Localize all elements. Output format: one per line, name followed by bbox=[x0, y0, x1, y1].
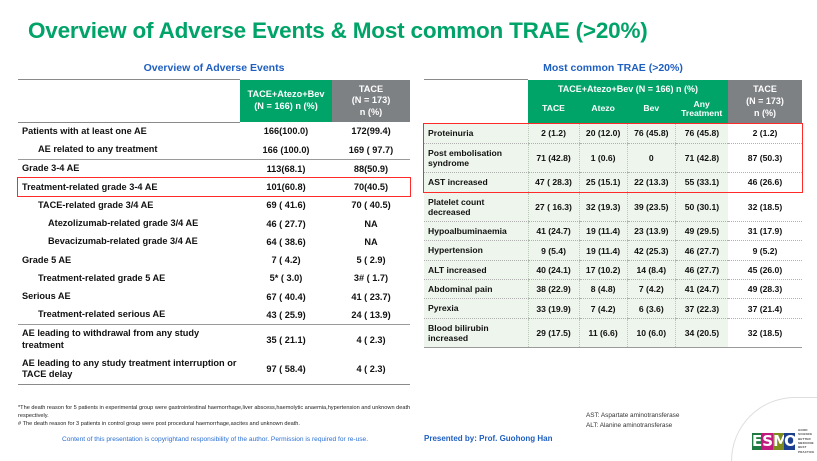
row-value-bev: 14 (8.4) bbox=[627, 260, 675, 279]
row-value-any-treatment: 49 (29.5) bbox=[675, 222, 728, 241]
left-header-combo: TACE+Atezo+Bev (N = 166) n (%) bbox=[240, 80, 332, 123]
row-value-atezo: 7 (4.2) bbox=[579, 299, 627, 318]
left-table-body: Patients with at least one AE166(100.0)1… bbox=[18, 122, 410, 384]
row-label: Hypertension bbox=[424, 241, 528, 260]
right-header-group-combo: TACE+Atezo+Bev (N = 166) n (%) bbox=[528, 80, 728, 97]
right-header-group-row: TACE+Atezo+Bev (N = 166) n (%) TACE (N =… bbox=[424, 80, 802, 97]
row-label: TACE-related grade 3/4 AE bbox=[18, 196, 240, 214]
page-title: Overview of Adverse Events & Most common… bbox=[28, 18, 648, 44]
table-row: Post embolisation syndrome71 (42.8)1 (0.… bbox=[424, 143, 802, 173]
right-table-head: TACE+Atezo+Bev (N = 166) n (%) TACE (N =… bbox=[424, 80, 802, 125]
row-value-bev: 39 (23.5) bbox=[627, 192, 675, 222]
row-value-tace: NA bbox=[332, 233, 410, 251]
table-row: Treatment-related grade 5 AE5* ( 3.0)3# … bbox=[18, 269, 410, 287]
row-value-tace-mono: 2 (1.2) bbox=[728, 124, 802, 143]
right-header-sub-any-line2: Treatment bbox=[676, 109, 727, 119]
table-row: ALT increased40 (24.1)17 (10.2)14 (8.4)4… bbox=[424, 260, 802, 279]
esmo-logo-tagline: GOOD SCIENCE BETTER MEDICINE BEST PRACTI… bbox=[798, 428, 817, 454]
esmo-logo-letter-m: M bbox=[773, 433, 784, 450]
table-row: Platelet count decreased27 ( 16.3)32 (19… bbox=[424, 192, 802, 222]
right-table-caption: Most common TRAE (>20%) bbox=[424, 62, 802, 74]
row-label: Post embolisation syndrome bbox=[424, 143, 528, 173]
presented-by: Presented by: Prof. Guohong Han bbox=[424, 434, 552, 443]
row-label: Platelet count decreased bbox=[424, 192, 528, 222]
row-value-tace-mono: 9 (5.2) bbox=[728, 241, 802, 260]
row-value-tace-mono: 32 (18.5) bbox=[728, 318, 802, 348]
esmo-logo-letter-s: S bbox=[762, 433, 773, 450]
esmo-tagline-line2: BETTER MEDICINE bbox=[798, 437, 817, 446]
table-row: Pyrexia33 (19.9)7 (4.2)6 (3.6)37 (22.3)3… bbox=[424, 299, 802, 318]
row-value-any-treatment: 76 (45.8) bbox=[675, 124, 728, 143]
row-label: ALT increased bbox=[424, 260, 528, 279]
row-label: Treatment-related serious AE bbox=[18, 306, 240, 325]
row-value-combo: 166(100.0) bbox=[240, 122, 332, 141]
row-label: Atezolizumab-related grade 3/4 AE bbox=[18, 215, 240, 233]
row-value-combo: 64 ( 38.6) bbox=[240, 233, 332, 251]
row-value-atezo: 17 (10.2) bbox=[579, 260, 627, 279]
row-value-combo: 35 ( 21.1) bbox=[240, 324, 332, 354]
row-value-tace: 71 (42.8) bbox=[528, 143, 579, 173]
row-value-combo: 5* ( 3.0) bbox=[240, 269, 332, 287]
row-value-combo: 7 ( 4.2) bbox=[240, 251, 332, 269]
esmo-tagline-line1: GOOD SCIENCE bbox=[798, 428, 817, 437]
left-header-tace: TACE (N = 173) n (%) bbox=[332, 80, 410, 123]
row-label: Proteinuria bbox=[424, 124, 528, 143]
table-row: Patients with at least one AE166(100.0)1… bbox=[18, 122, 410, 141]
right-header-tace: TACE (N = 173) n (%) bbox=[728, 80, 802, 125]
abbreviation-ast: AST: Aspartate aminotransferase bbox=[586, 411, 679, 421]
table-row: Treatment-related serious AE43 ( 25.9)24… bbox=[18, 306, 410, 325]
row-value-tace: 3# ( 1.7) bbox=[332, 269, 410, 287]
overview-adverse-events-table: TACE+Atezo+Bev (N = 166) n (%) TACE (N =… bbox=[18, 79, 410, 385]
row-value-tace: 2 (1.2) bbox=[528, 124, 579, 143]
row-value-tace: 38 (22.9) bbox=[528, 280, 579, 299]
esmo-logo-letter-e: E bbox=[752, 433, 762, 450]
row-value-atezo: 32 (19.3) bbox=[579, 192, 627, 222]
row-value-tace: 70 ( 40.5) bbox=[332, 196, 410, 214]
table-row: Serious AE67 ( 40.4)41 ( 23.7) bbox=[18, 287, 410, 305]
row-label: Bevacizumab-related grade 3/4 AE bbox=[18, 233, 240, 251]
overview-adverse-events-panel: Overview of Adverse Events TACE+Atezo+Be… bbox=[18, 62, 410, 385]
row-label: Abdominal pain bbox=[424, 280, 528, 299]
table-row: AST increased47 ( 28.3)25 (15.1)22 (13.3… bbox=[424, 173, 802, 192]
row-value-bev: 0 bbox=[627, 143, 675, 173]
copyright-notice: Content of this presentation is copyrigh… bbox=[62, 436, 368, 443]
right-header-tace-line1: TACE bbox=[730, 84, 800, 96]
row-value-any-treatment: 71 (42.8) bbox=[675, 143, 728, 173]
row-value-tace: 4 ( 2.3) bbox=[332, 354, 410, 384]
row-value-combo: 113(68.1) bbox=[240, 159, 332, 178]
right-header-sub-tace: TACE bbox=[528, 97, 579, 125]
left-header-combo-line2: (N = 166) n (%) bbox=[242, 101, 330, 113]
left-table-head: TACE+Atezo+Bev (N = 166) n (%) TACE (N =… bbox=[18, 80, 410, 123]
row-value-combo: 43 ( 25.9) bbox=[240, 306, 332, 325]
row-value-tace: 29 (17.5) bbox=[528, 318, 579, 348]
row-label: Hypoalbuminaemia bbox=[424, 222, 528, 241]
row-value-tace-mono: 49 (28.3) bbox=[728, 280, 802, 299]
row-value-tace: 24 ( 13.9) bbox=[332, 306, 410, 325]
left-header-combo-line1: TACE+Atezo+Bev bbox=[242, 89, 330, 101]
row-value-combo: 166 (100.0) bbox=[240, 141, 332, 160]
row-value-tace: 40 (24.1) bbox=[528, 260, 579, 279]
right-abbreviations: AST: Aspartate aminotransferase ALT: Ala… bbox=[586, 411, 679, 431]
row-value-tace: 9 (5.4) bbox=[528, 241, 579, 260]
table-row: Hypertension9 (5.4)19 (11.4)42 (25.3)46 … bbox=[424, 241, 802, 260]
table-row: Atezolizumab-related grade 3/4 AE46 ( 27… bbox=[18, 215, 410, 233]
right-header-sub-atezo: Atezo bbox=[579, 97, 627, 125]
left-header-tace-line2: (N = 173) bbox=[334, 95, 408, 107]
left-header-blank bbox=[18, 80, 240, 123]
row-value-tace-mono: 32 (18.5) bbox=[728, 192, 802, 222]
row-value-tace-mono: 46 (26.6) bbox=[728, 173, 802, 192]
row-value-bev: 6 (3.6) bbox=[627, 299, 675, 318]
row-label: AE related to any treatment bbox=[18, 141, 240, 160]
row-value-bev: 10 (6.0) bbox=[627, 318, 675, 348]
row-label: Blood bilirubin increased bbox=[424, 318, 528, 348]
row-value-any-treatment: 34 (20.5) bbox=[675, 318, 728, 348]
right-table-body: Proteinuria2 (1.2)20 (12.0)76 (45.8)76 (… bbox=[424, 124, 802, 348]
row-value-tace-mono: 37 (21.4) bbox=[728, 299, 802, 318]
row-label: Grade 5 AE bbox=[18, 251, 240, 269]
row-label: AE leading to any study treatment interr… bbox=[18, 354, 240, 384]
right-header-sub-any-treatment: Any Treatment bbox=[675, 97, 728, 125]
row-value-any-treatment: 41 (24.7) bbox=[675, 280, 728, 299]
table-row: AE leading to withdrawal from any study … bbox=[18, 324, 410, 354]
right-header-tace-line3: n (%) bbox=[730, 108, 800, 120]
row-value-atezo: 19 (11.4) bbox=[579, 222, 627, 241]
row-value-combo: 69 ( 41.6) bbox=[240, 196, 332, 214]
left-header-tace-line3: n (%) bbox=[334, 107, 408, 119]
row-value-tace: 70(40.5) bbox=[332, 178, 410, 196]
row-label: Treatment-related grade 3-4 AE bbox=[18, 178, 240, 196]
row-value-tace: 47 ( 28.3) bbox=[528, 173, 579, 192]
row-label: AST increased bbox=[424, 173, 528, 192]
table-row: Hypoalbuminaemia41 (24.7)19 (11.4)23 (13… bbox=[424, 222, 802, 241]
table-row: Abdominal pain38 (22.9)8 (4.8)7 (4.2)41 … bbox=[424, 280, 802, 299]
row-value-tace: NA bbox=[332, 215, 410, 233]
most-common-trae-table: TACE+Atezo+Bev (N = 166) n (%) TACE (N =… bbox=[424, 79, 802, 348]
left-footnotes: *The death reason for 5 patients in expe… bbox=[18, 404, 418, 428]
esmo-logo: E S M O GOOD SCIENCE BETTER MEDICINE BES… bbox=[752, 428, 817, 454]
row-value-tace: 88(50.9) bbox=[332, 159, 410, 178]
row-value-bev: 76 (45.8) bbox=[627, 124, 675, 143]
row-value-bev: 7 (4.2) bbox=[627, 280, 675, 299]
row-label: Pyrexia bbox=[424, 299, 528, 318]
row-value-atezo: 1 (0.6) bbox=[579, 143, 627, 173]
row-value-tace-mono: 45 (26.0) bbox=[728, 260, 802, 279]
table-row: Bevacizumab-related grade 3/4 AE64 ( 38.… bbox=[18, 233, 410, 251]
row-label: Grade 3-4 AE bbox=[18, 159, 240, 178]
row-value-combo: 97 ( 58.4) bbox=[240, 354, 332, 384]
esmo-tagline-line3: BEST PRACTICE bbox=[798, 445, 817, 454]
row-value-tace-mono: 31 (17.9) bbox=[728, 222, 802, 241]
row-value-atezo: 25 (15.1) bbox=[579, 173, 627, 192]
row-value-combo: 67 ( 40.4) bbox=[240, 287, 332, 305]
row-value-tace: 5 ( 2.9) bbox=[332, 251, 410, 269]
row-value-combo: 46 ( 27.7) bbox=[240, 215, 332, 233]
row-value-tace: 41 (24.7) bbox=[528, 222, 579, 241]
row-value-combo: 101(60.8) bbox=[240, 178, 332, 196]
table-row: Grade 3-4 AE113(68.1)88(50.9) bbox=[18, 159, 410, 178]
row-value-tace-mono: 87 (50.3) bbox=[728, 143, 802, 173]
right-header-blank bbox=[424, 80, 528, 125]
esmo-logo-letter-o: O bbox=[784, 433, 795, 450]
row-value-any-treatment: 50 (30.1) bbox=[675, 192, 728, 222]
row-value-bev: 22 (13.3) bbox=[627, 173, 675, 192]
row-value-any-treatment: 46 (27.7) bbox=[675, 241, 728, 260]
left-header-tace-line1: TACE bbox=[334, 84, 408, 96]
row-value-atezo: 20 (12.0) bbox=[579, 124, 627, 143]
table-row: AE related to any treatment166 (100.0)16… bbox=[18, 141, 410, 160]
right-header-tace-line2: (N = 173) bbox=[730, 96, 800, 108]
row-value-tace: 4 ( 2.3) bbox=[332, 324, 410, 354]
row-value-bev: 23 (13.9) bbox=[627, 222, 675, 241]
row-value-any-treatment: 37 (22.3) bbox=[675, 299, 728, 318]
table-row: Proteinuria2 (1.2)20 (12.0)76 (45.8)76 (… bbox=[424, 124, 802, 143]
table-row: Treatment-related grade 3-4 AE101(60.8)7… bbox=[18, 178, 410, 196]
row-value-tace: 33 (19.9) bbox=[528, 299, 579, 318]
right-header-sub-bev: Bev bbox=[627, 97, 675, 125]
table-row: Blood bilirubin increased29 (17.5)11 (6.… bbox=[424, 318, 802, 348]
abbreviation-alt: ALT: Alanine aminotransferase bbox=[586, 421, 679, 431]
row-label: Serious AE bbox=[18, 287, 240, 305]
row-value-atezo: 8 (4.8) bbox=[579, 280, 627, 299]
row-value-tace: 27 ( 16.3) bbox=[528, 192, 579, 222]
footnote-asterisk: *The death reason for 5 patients in expe… bbox=[18, 404, 418, 420]
left-table-caption: Overview of Adverse Events bbox=[18, 62, 410, 74]
row-value-atezo: 11 (6.6) bbox=[579, 318, 627, 348]
row-value-bev: 42 (25.3) bbox=[627, 241, 675, 260]
row-value-any-treatment: 55 (33.1) bbox=[675, 173, 728, 192]
row-value-tace: 41 ( 23.7) bbox=[332, 287, 410, 305]
table-row: TACE-related grade 3/4 AE69 ( 41.6)70 ( … bbox=[18, 196, 410, 214]
footnote-hash: # The death reason for 3 patients in con… bbox=[18, 420, 418, 428]
table-row: AE leading to any study treatment interr… bbox=[18, 354, 410, 384]
row-label: Patients with at least one AE bbox=[18, 122, 240, 141]
left-header-row: TACE+Atezo+Bev (N = 166) n (%) TACE (N =… bbox=[18, 80, 410, 123]
row-value-tace: 169 ( 97.7) bbox=[332, 141, 410, 160]
row-value-tace: 172(99.4) bbox=[332, 122, 410, 141]
row-value-any-treatment: 46 (27.7) bbox=[675, 260, 728, 279]
row-label: AE leading to withdrawal from any study … bbox=[18, 324, 240, 354]
row-label: Treatment-related grade 5 AE bbox=[18, 269, 240, 287]
most-common-trae-panel: Most common TRAE (>20%) TACE+Atezo+Bev (… bbox=[424, 62, 802, 348]
row-value-atezo: 19 (11.4) bbox=[579, 241, 627, 260]
table-row: Grade 5 AE7 ( 4.2)5 ( 2.9) bbox=[18, 251, 410, 269]
